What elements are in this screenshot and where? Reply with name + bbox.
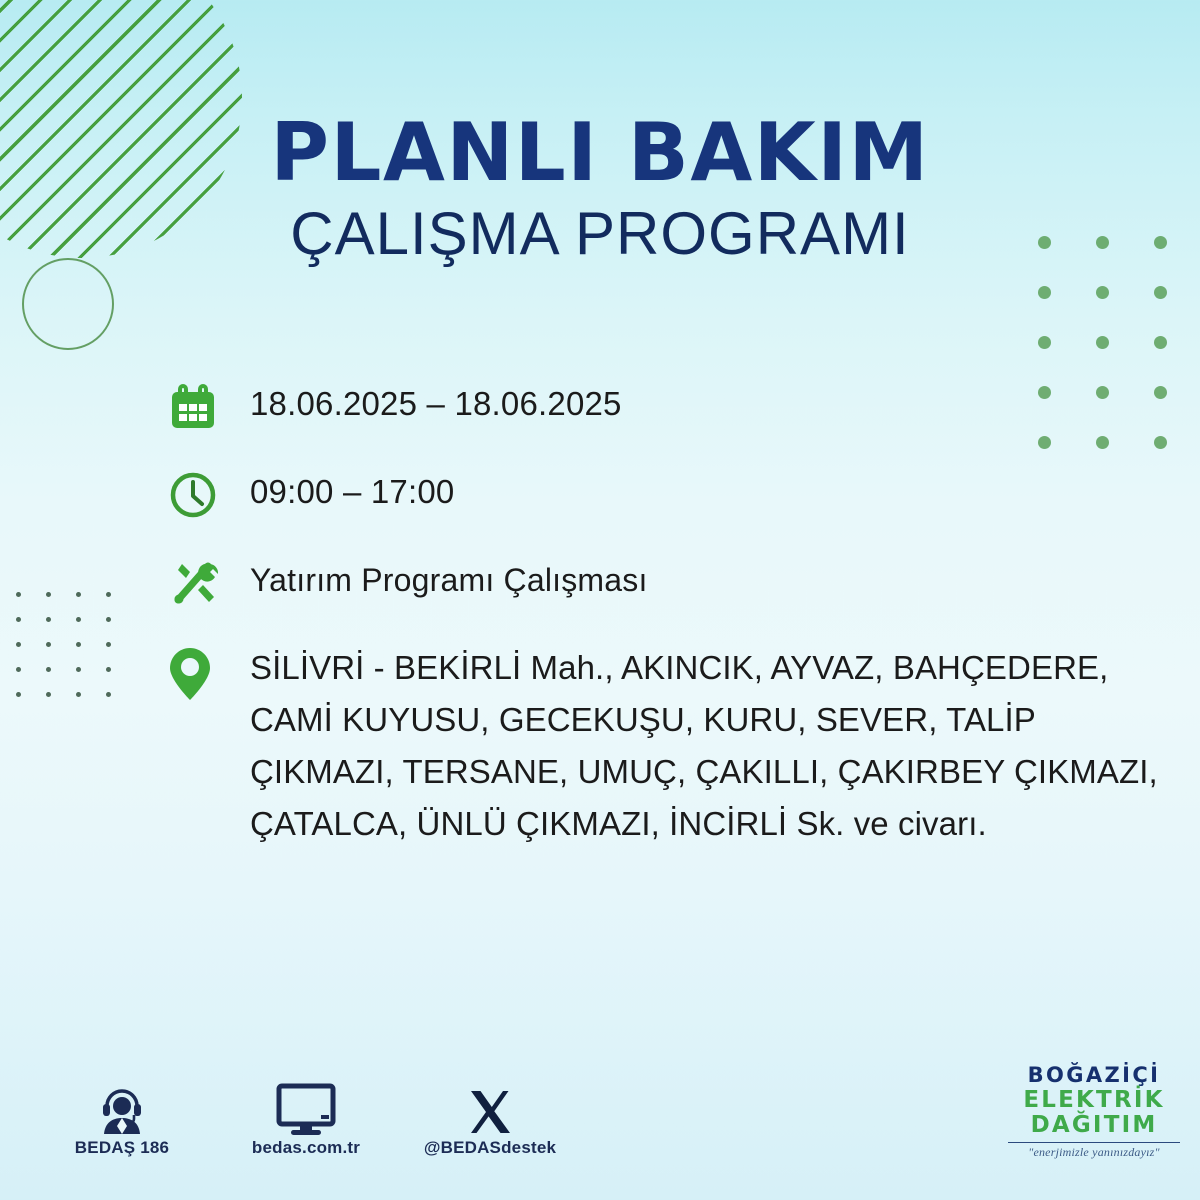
- footer-label-x-account: @BEDASdestek: [424, 1138, 556, 1157]
- address-label: SİLİVRİ - BEKİRLİ Mah., AKINCIK, AYVAZ, …: [250, 642, 1174, 850]
- brand-line-dagitim: DAĞITIM: [1004, 1113, 1184, 1139]
- footer-item-x-account[interactable]: @BEDASdestek: [420, 1076, 560, 1158]
- monitor-icon: [236, 1076, 376, 1138]
- footer-item-call-center[interactable]: BEDAŞ 186: [52, 1076, 192, 1158]
- info-row-work-type: Yatırım Programı Çalışması: [164, 554, 1174, 612]
- dot-grid-left-decoration: [16, 592, 136, 717]
- call-center-agent-icon: [52, 1076, 192, 1138]
- circle-outline-decoration: [22, 258, 114, 350]
- footer-label-website: bedas.com.tr: [252, 1138, 360, 1157]
- brand-logo: BOĞAZİÇİ ELEKTRİK DAĞITIM "enerjimizle y…: [1004, 1064, 1184, 1160]
- brand-line-bogazici: BOĞAZİÇİ: [1004, 1064, 1184, 1088]
- info-row-time: 09:00 – 17:00: [164, 466, 1174, 524]
- clock-icon: [164, 466, 250, 524]
- time-range-label: 09:00 – 17:00: [250, 466, 454, 518]
- footer-item-website[interactable]: bedas.com.tr: [236, 1076, 376, 1158]
- brand-divider: [1008, 1142, 1180, 1143]
- brand-line-elektrik: ELEKTRİK: [1004, 1088, 1184, 1114]
- date-range-label: 18.06.2025 – 18.06.2025: [250, 378, 622, 430]
- info-section: 18.06.2025 – 18.06.2025 09:00 – 17:00 Ya…: [164, 378, 1174, 850]
- info-row-date: 18.06.2025 – 18.06.2025: [164, 378, 1174, 436]
- page-subtitle: ÇALIŞMA PROGRAMI: [0, 202, 1200, 265]
- x-twitter-icon: [420, 1076, 560, 1138]
- info-row-address: SİLİVRİ - BEKİRLİ Mah., AKINCIK, AYVAZ, …: [164, 642, 1174, 850]
- tools-icon: [164, 554, 250, 612]
- footer-links: BEDAŞ 186 bedas.com.tr @BEDASdestek: [52, 1076, 560, 1158]
- calendar-icon: [164, 378, 250, 436]
- work-type-label: Yatırım Programı Çalışması: [250, 554, 648, 606]
- location-pin-icon: [164, 642, 250, 700]
- brand-tagline: "enerjimizle yanınızdayız": [1004, 1145, 1184, 1160]
- page-header: PLANLI BAKIM ÇALIŞMA PROGRAMI: [0, 112, 1200, 265]
- footer-label-call-center: BEDAŞ 186: [75, 1138, 169, 1157]
- page-title: PLANLI BAKIM: [0, 112, 1200, 194]
